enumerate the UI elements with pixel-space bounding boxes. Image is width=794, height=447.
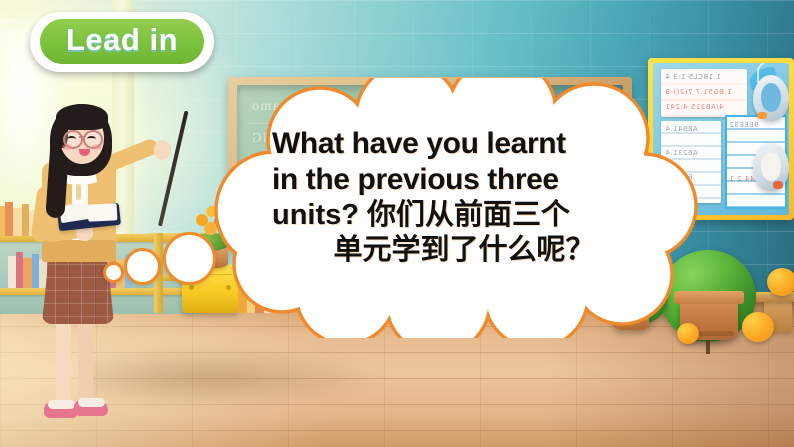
lead-in-badge-pill: Lead in <box>40 19 204 64</box>
lead-in-badge-label: Lead in <box>66 24 178 56</box>
teacher-leg-right <box>78 316 93 408</box>
teacher-shoe-left-top <box>48 400 75 409</box>
thought-trail-dot-medium <box>124 248 161 285</box>
bubble-line-2: in the previous three <box>264 162 664 198</box>
teacher-leg-left <box>56 316 71 410</box>
penguin-decoration-top <box>753 75 789 121</box>
penguin-beak-2 <box>773 181 782 189</box>
thought-trail-dot-large <box>163 232 216 285</box>
teacher-eye-right <box>87 136 96 142</box>
orange-on-stool <box>767 268 794 296</box>
penguin-decoration-bottom <box>753 143 789 191</box>
bubble-line-1: What have you learnt <box>264 126 664 162</box>
teacher-blush-left <box>62 144 72 150</box>
glasses-bridge <box>79 136 84 138</box>
penguin-beak <box>757 112 766 119</box>
pointer-stick <box>158 111 188 227</box>
penguin-belly-2 <box>761 152 781 182</box>
teacher-eye-left <box>67 136 76 142</box>
teacher-necklace <box>76 184 81 200</box>
teacher-hand-right <box>154 140 171 160</box>
teacher-cardigan-hem <box>42 240 116 262</box>
teacher-shoe-right-top <box>78 398 105 407</box>
teacher-blush-right <box>92 144 102 150</box>
stool-top <box>756 294 794 302</box>
orange-large-floor <box>742 312 774 342</box>
bubble-line-3: units? 你们从前面三个 <box>264 198 664 233</box>
slide-canvas: Cinamo NETIIING OOO O I 1.1BCL5 1:3 4 1.… <box>0 0 794 447</box>
thought-trail-dot-small <box>103 262 124 283</box>
thought-bubble-text: What have you learnt in the previous thr… <box>264 126 664 268</box>
open-book-pages-right <box>88 203 118 221</box>
bubble-line-4: 单元学到了什么呢？ <box>264 233 664 268</box>
penguin-belly <box>761 83 781 112</box>
thought-bubble: What have you learnt in the previous thr… <box>212 78 702 338</box>
lead-in-badge[interactable]: Lead in <box>30 12 214 72</box>
